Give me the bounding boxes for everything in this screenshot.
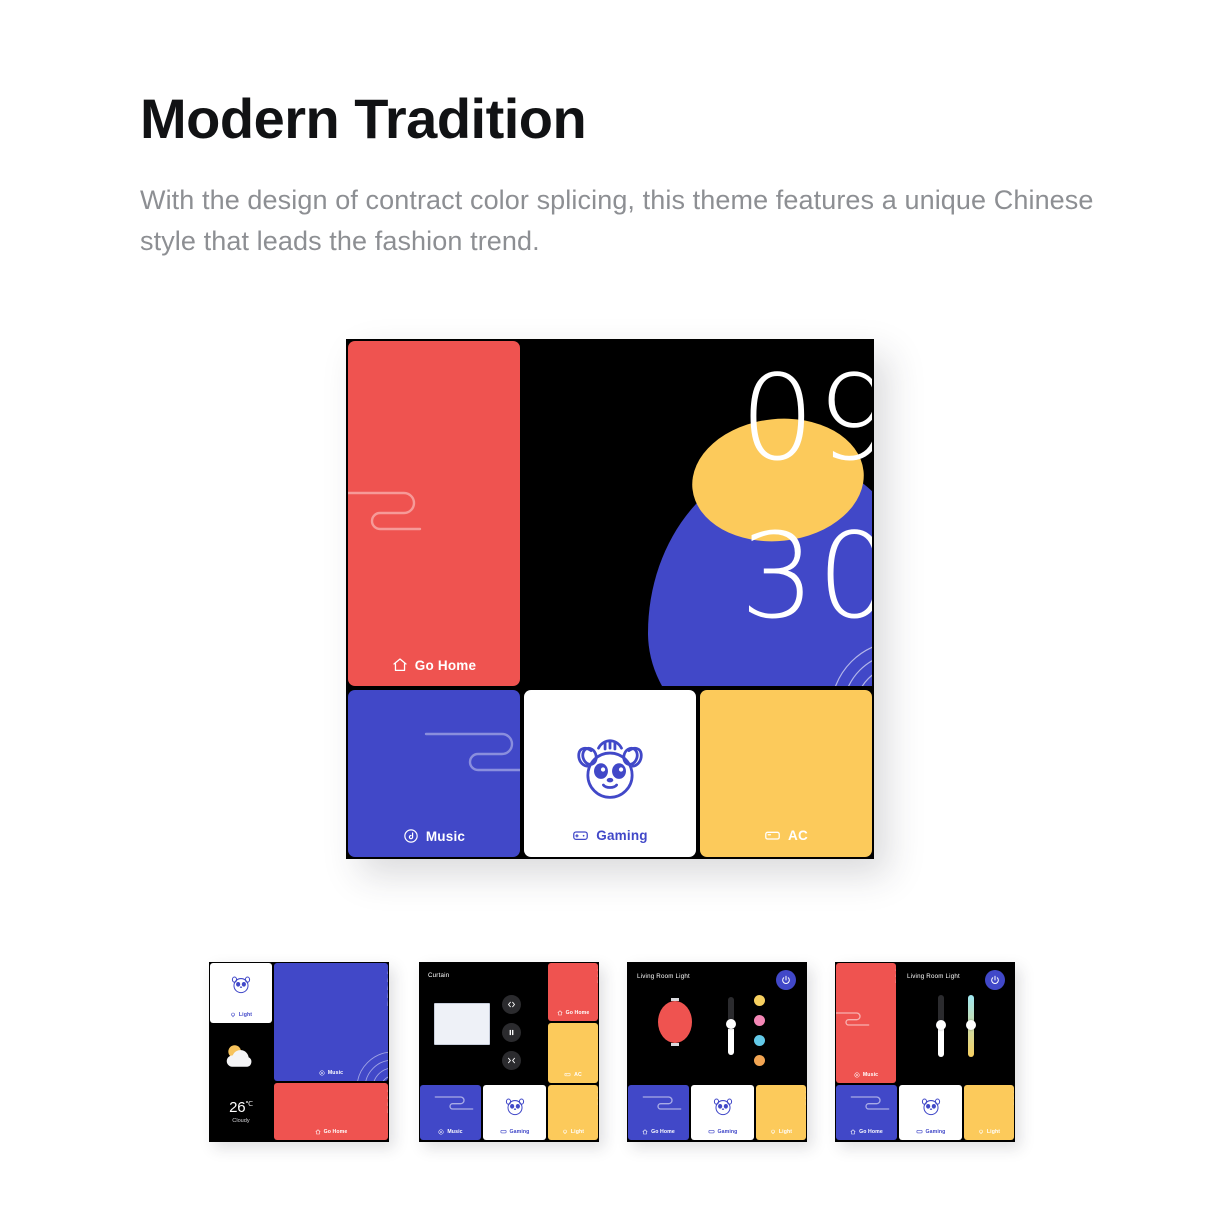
thumb3-go-home-label: Go Home	[651, 1129, 675, 1135]
gamepad-icon	[500, 1128, 507, 1135]
thumb4-light-panel[interactable]: Living Room Light	[898, 963, 1014, 1083]
thumb4-light-label: Light	[987, 1129, 1000, 1135]
thumb2-tile-ac[interactable]: AC	[548, 1023, 598, 1083]
device-screen: Go Home 09 30	[346, 339, 874, 859]
panda-tiger-icon	[228, 970, 254, 996]
thumb1-tile-go-home[interactable]: Go Home	[274, 1083, 388, 1140]
hero-tile-go-home-label: Go Home	[415, 658, 476, 673]
thumb3-tile-light[interactable]: Light	[756, 1085, 806, 1140]
thumb1-tile-music[interactable]: Music	[274, 963, 388, 1081]
thumb2-tile-go-home[interactable]: Go Home	[548, 963, 598, 1021]
thumb4-gaming-label: Gaming	[926, 1129, 946, 1135]
gamepad-icon	[572, 827, 589, 844]
cloud-meander-icon	[348, 475, 440, 535]
thumb1-music-label-row: Music	[274, 1070, 388, 1076]
page-subtitle: With the design of contract color splici…	[140, 180, 1100, 262]
color-temperature-slider-knob[interactable]	[966, 1020, 976, 1030]
thumb3-gaming-label-row: Gaming	[691, 1128, 754, 1135]
hero-tile-music[interactable]: Music	[348, 690, 520, 857]
thumb4-go-home-label-row: Go Home	[836, 1129, 897, 1135]
thumb2-tile-light[interactable]: Light	[548, 1085, 598, 1140]
hero-tile-gaming-label: Gaming	[596, 828, 647, 843]
hero-tile-gaming[interactable]: Gaming	[524, 690, 696, 857]
curtain-pause-button[interactable]	[502, 1023, 521, 1042]
open-arrows-icon	[507, 1000, 516, 1009]
cloud-meander-icon	[836, 1007, 870, 1027]
music-disc-icon	[403, 828, 419, 844]
cloud-meander-icon	[850, 1091, 890, 1111]
hero-tile-clock[interactable]: 09 30	[522, 341, 872, 686]
thumb2-go-home-label: Go Home	[566, 1010, 590, 1016]
home-icon	[315, 1129, 321, 1135]
hero-tile-go-home[interactable]: Go Home	[348, 341, 520, 686]
thumbnail-row: Light 26℃ Cloudy	[209, 962, 1019, 1144]
thumb4-light-label-row: Light	[964, 1129, 1014, 1135]
sun-cloud-icon	[222, 1041, 260, 1071]
curtain-open-button[interactable]	[502, 995, 521, 1014]
gamepad-icon	[708, 1128, 715, 1135]
brightness-slider-knob[interactable]	[936, 1020, 946, 1030]
thumb2-gaming-label-row: Gaming	[483, 1128, 546, 1135]
thumb2-music-label-row: Music	[420, 1129, 481, 1135]
curtain-close-button[interactable]	[502, 1051, 521, 1070]
color-swatch-pink[interactable]	[754, 1015, 765, 1026]
power-icon	[781, 975, 791, 985]
color-swatch-yellow[interactable]	[754, 995, 765, 1006]
home-icon	[392, 657, 408, 673]
red-lantern-icon	[658, 1001, 692, 1043]
panda-tiger-icon	[710, 1092, 736, 1118]
thumb3-gaming-label: Gaming	[718, 1129, 738, 1135]
thumb4-music-label: Music	[863, 1072, 878, 1078]
thumb2-light-label: Light	[571, 1129, 584, 1135]
header: Modern Tradition With the design of cont…	[140, 88, 1100, 262]
thumb2-music-label: Music	[447, 1129, 462, 1135]
thumbnail-living-room-light-color-screen[interactable]: Living Room Light	[627, 962, 807, 1142]
thumb1-light-label-row: Light	[210, 1012, 272, 1018]
thumb1-weather-condition: Cloudy	[210, 1118, 272, 1124]
thumb1-go-home-label-row: Go Home	[274, 1129, 388, 1135]
page-title: Modern Tradition	[140, 88, 1100, 150]
thumb3-tile-go-home[interactable]: Go Home	[628, 1085, 689, 1140]
thumb1-tile-light[interactable]: Light	[210, 963, 272, 1023]
bulb-icon	[770, 1129, 776, 1135]
thumb4-tile-gaming[interactable]: Gaming	[899, 1085, 962, 1140]
thumb4-gaming-label-row: Gaming	[899, 1128, 962, 1135]
power-button[interactable]	[985, 970, 1005, 990]
color-swatch-cyan[interactable]	[754, 1035, 765, 1046]
hero-tile-music-label-row: Music	[348, 828, 520, 844]
hero-tile-go-home-label-row: Go Home	[348, 657, 520, 673]
thumb2-curtain-panel[interactable]: Curtain	[420, 963, 546, 1083]
thumb1-light-label: Light	[239, 1012, 252, 1018]
bulb-icon	[978, 1129, 984, 1135]
thumb3-go-home-label-row: Go Home	[628, 1129, 689, 1135]
panda-tiger-icon	[569, 726, 651, 808]
power-button[interactable]	[776, 970, 796, 990]
clock-hours: 09	[740, 361, 872, 477]
thumb2-title: Curtain	[428, 972, 449, 979]
music-disc-icon	[319, 1070, 325, 1076]
thumbnail-living-room-light-dual-slider-screen[interactable]: Music Living Room Light Go Home	[835, 962, 1015, 1142]
gamepad-icon	[916, 1128, 923, 1135]
thumb3-tile-gaming[interactable]: Gaming	[691, 1085, 754, 1140]
thumb4-tile-go-home[interactable]: Go Home	[836, 1085, 897, 1140]
thumb2-gaming-label: Gaming	[510, 1129, 530, 1135]
cloud-meander-icon	[434, 1091, 474, 1111]
thumb3-light-label-row: Light	[756, 1129, 806, 1135]
panda-tiger-icon	[502, 1092, 528, 1118]
thumb3-light-panel[interactable]: Living Room Light	[628, 963, 806, 1083]
thumb1-temperature-value: 26℃	[210, 1099, 272, 1116]
pause-icon	[507, 1028, 516, 1037]
home-icon	[850, 1129, 856, 1135]
clock-minutes: 30	[740, 519, 872, 635]
thumb4-tile-light[interactable]: Light	[964, 1085, 1014, 1140]
hero-tile-music-label: Music	[426, 829, 465, 844]
curtain-preview-image	[434, 1003, 490, 1045]
thumbnail-curtain-screen[interactable]: Curtain Go Home	[419, 962, 599, 1142]
air-conditioner-icon	[564, 1071, 571, 1078]
thumb1-music-label: Music	[328, 1070, 343, 1076]
thumb2-ac-label: AC	[574, 1072, 582, 1078]
thumb2-tile-music[interactable]: Music	[420, 1085, 481, 1140]
thumb2-tile-gaming[interactable]: Gaming	[483, 1085, 546, 1140]
home-icon	[557, 1010, 563, 1016]
air-conditioner-icon	[764, 827, 781, 844]
thumb3-title: Living Room Light	[637, 973, 690, 980]
home-icon	[642, 1129, 648, 1135]
music-disc-icon	[438, 1129, 444, 1135]
color-swatch-orange[interactable]	[754, 1055, 765, 1066]
bulb-icon	[230, 1012, 236, 1018]
thumb4-title: Living Room Light	[907, 973, 960, 980]
thumb4-go-home-label: Go Home	[859, 1129, 883, 1135]
thumb1-weather-tile[interactable]: 26℃ Cloudy	[210, 1025, 272, 1140]
hero-tile-gaming-label-row: Gaming	[524, 827, 696, 844]
thumb1-go-home-label: Go Home	[324, 1129, 348, 1135]
power-icon	[990, 975, 1000, 985]
hero-tile-ac-label: AC	[788, 828, 808, 843]
bulb-icon	[562, 1129, 568, 1135]
panda-tiger-icon	[918, 1092, 944, 1118]
thumb2-ac-label-row: AC	[548, 1071, 598, 1078]
thumb2-light-label-row: Light	[548, 1129, 598, 1135]
music-disc-icon	[854, 1072, 860, 1078]
thumb2-go-home-label-row: Go Home	[548, 1010, 598, 1016]
thumb1-temperature-block: 26℃ Cloudy	[210, 1099, 272, 1124]
hero-preview: Go Home 09 30	[346, 339, 874, 859]
close-arrows-icon	[507, 1056, 516, 1065]
clock-display: 09 30	[740, 361, 872, 634]
cloud-meander-icon	[422, 718, 520, 774]
brightness-slider-knob[interactable]	[726, 1019, 736, 1029]
hero-tile-ac-label-row: AC	[700, 827, 872, 844]
cloud-meander-icon	[642, 1091, 682, 1111]
hero-tile-ac[interactable]: AC	[700, 690, 872, 857]
thumb4-tile-music[interactable]: Music	[836, 963, 896, 1083]
thumbnail-weather-home-screen[interactable]: Light 26℃ Cloudy	[209, 962, 389, 1142]
thumb3-light-label: Light	[779, 1129, 792, 1135]
thumb4-music-label-row: Music	[836, 1072, 896, 1078]
